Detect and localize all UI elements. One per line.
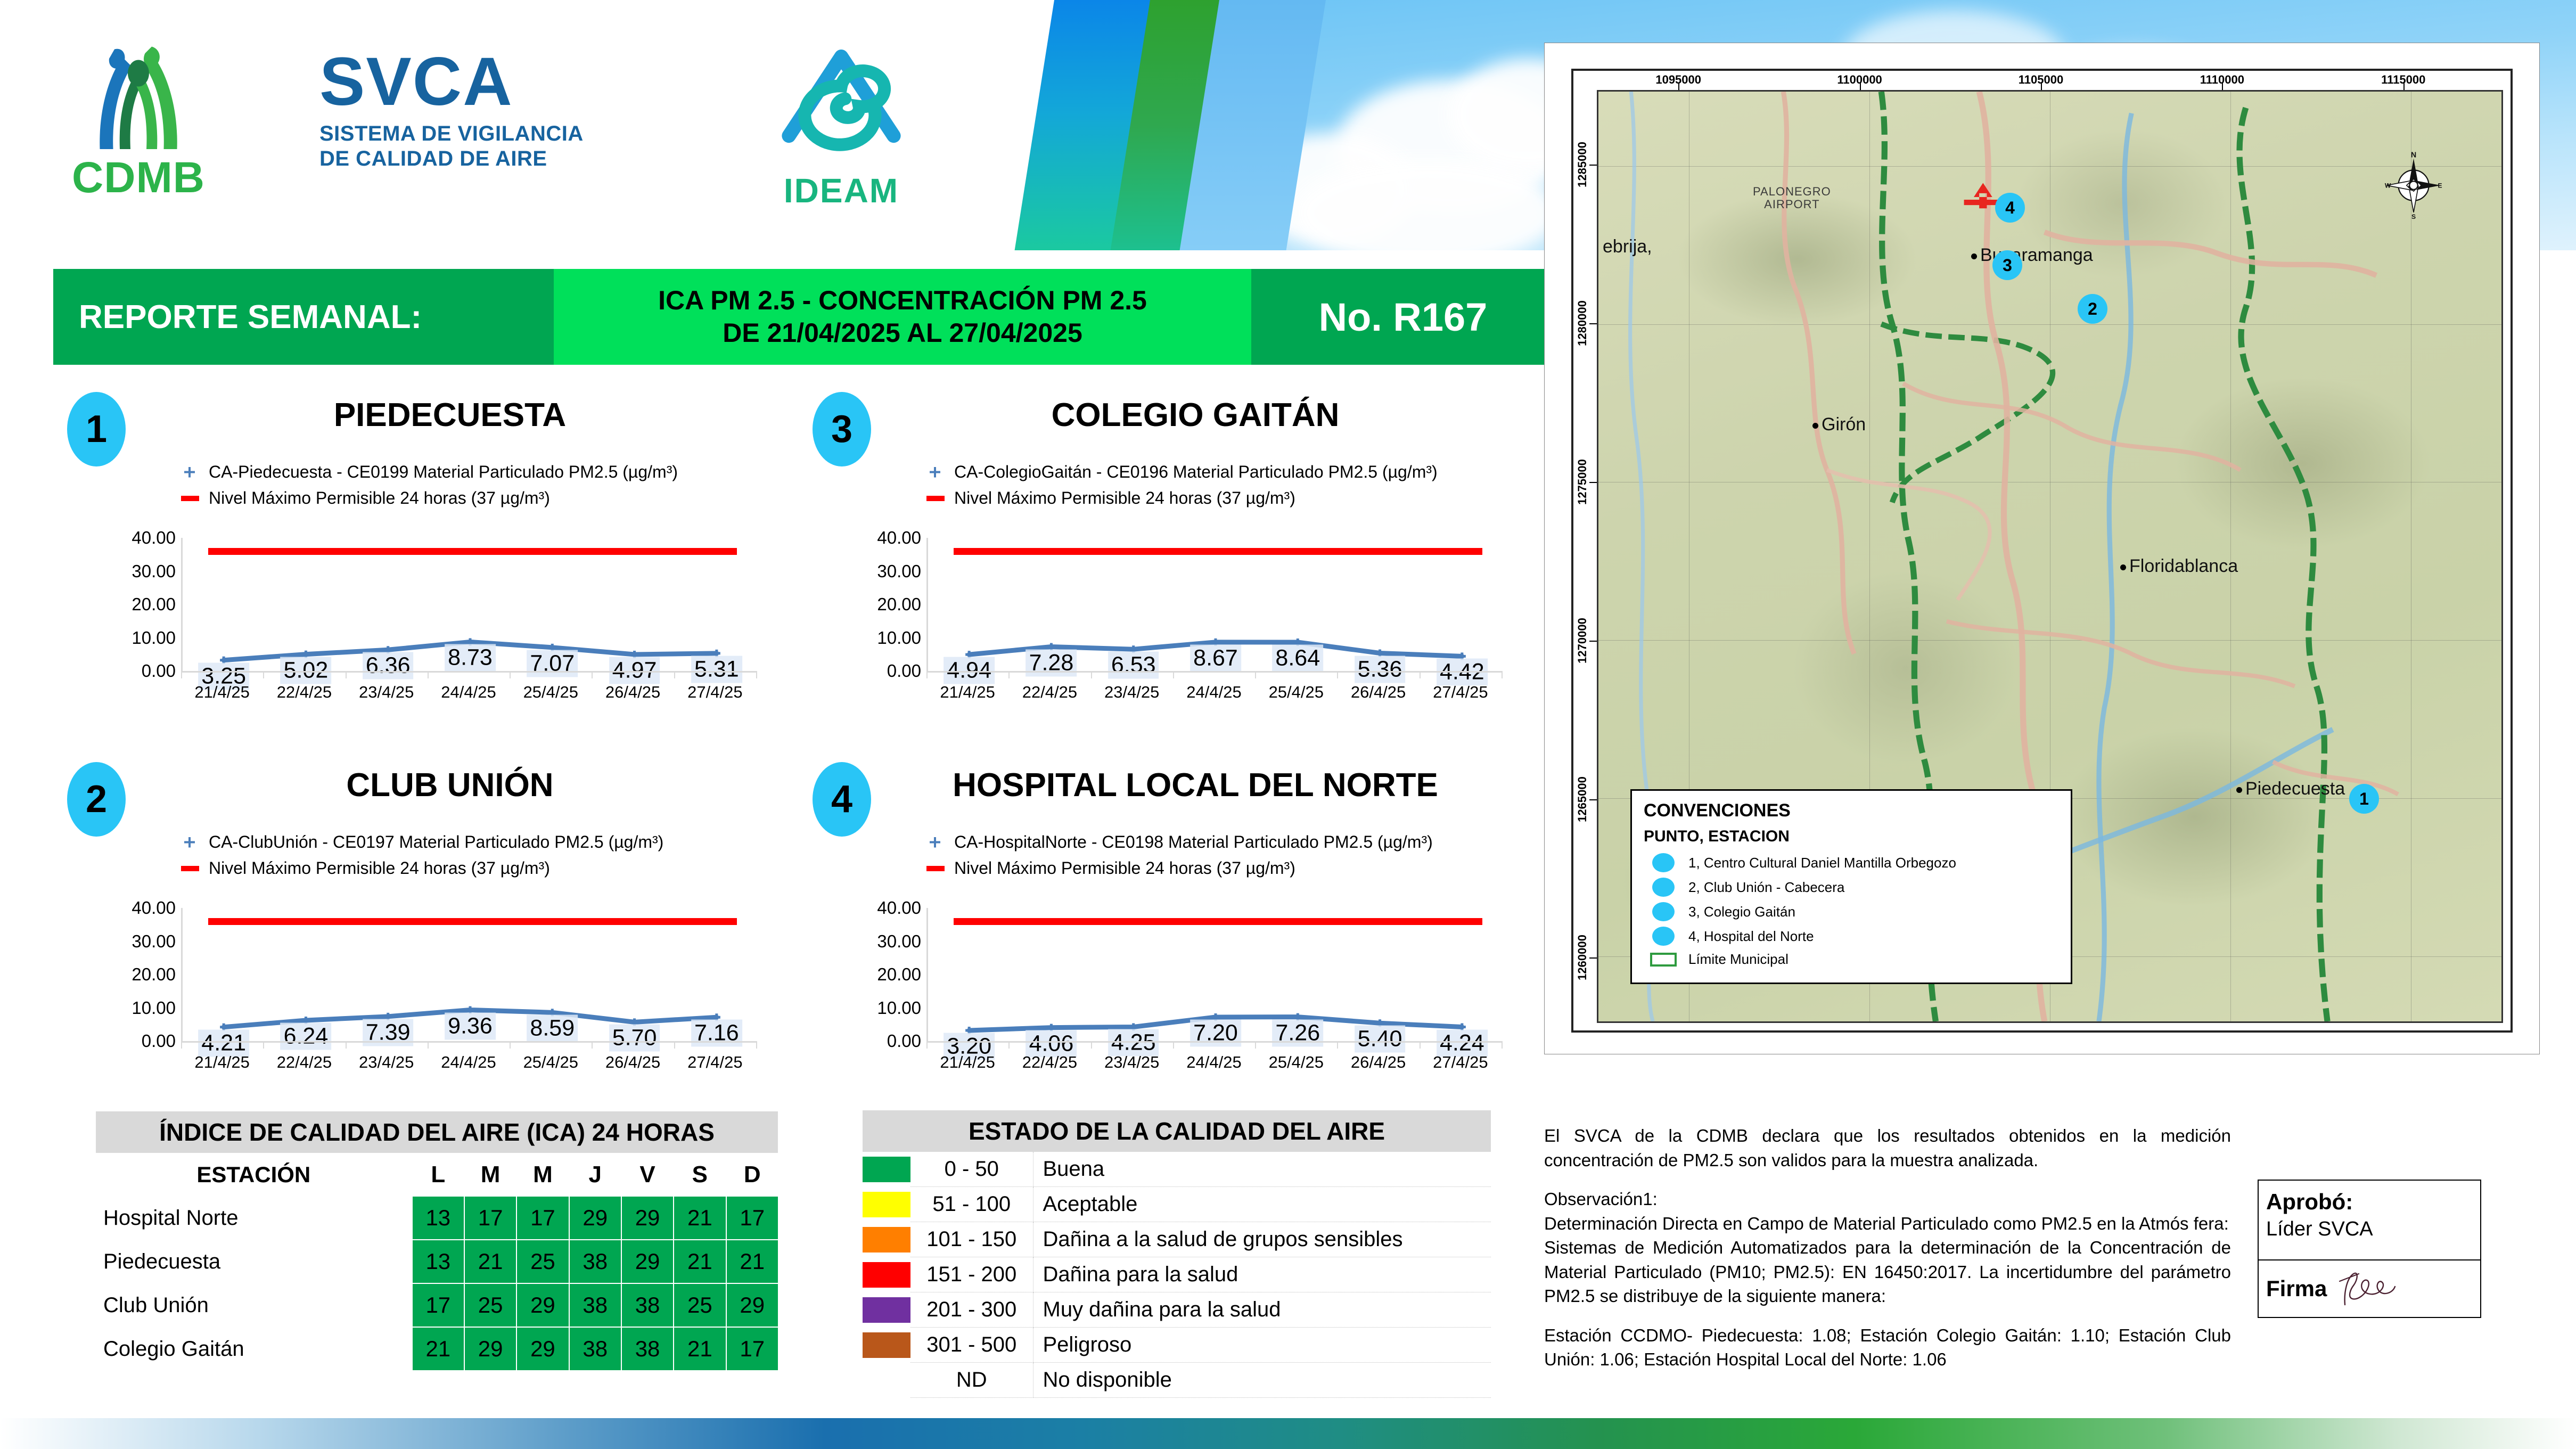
ica-value-cell: 38 bbox=[621, 1327, 674, 1371]
panel-number-badge: 2 bbox=[67, 762, 126, 837]
data-point-label: 8.64 bbox=[1272, 645, 1323, 672]
x-tick-label: 24/4/25 bbox=[441, 683, 496, 702]
x-tick-label: 25/4/25 bbox=[1269, 1053, 1324, 1072]
banner-title-segment: ICA PM 2.5 - CONCENTRACIÓN PM 2.5 DE 21/… bbox=[554, 269, 1251, 365]
x-tick-label: 26/4/25 bbox=[605, 683, 660, 702]
chart-x-axis-line bbox=[926, 1041, 1502, 1043]
x-tick-label: 21/4/25 bbox=[940, 1053, 995, 1072]
status-color-swatch-cell bbox=[863, 1222, 910, 1257]
map-legend-boundary-row: Límite Municipal bbox=[1644, 951, 2059, 968]
disclaimer-paragraph-1: El SVCA de la CDMB declara que los resul… bbox=[1544, 1124, 2231, 1172]
panel-number-badge: 3 bbox=[813, 392, 871, 466]
status-color-swatch bbox=[863, 1157, 910, 1182]
x-tick-label: 22/4/25 bbox=[1022, 683, 1077, 702]
station-point-icon bbox=[1652, 878, 1675, 897]
city-label-lebrija: ebrija, bbox=[1603, 236, 1652, 257]
x-tick-label: 24/4/25 bbox=[441, 1053, 496, 1072]
x-tick-label: 24/4/25 bbox=[1186, 683, 1241, 702]
ica-station-name: Colegio Gaitán bbox=[95, 1327, 412, 1371]
ica-value-cell: 17 bbox=[726, 1327, 778, 1371]
status-description: Dañina para la salud bbox=[1033, 1257, 1491, 1292]
svca-subtitle-line1: SISTEMA DE VIGILANCIA bbox=[319, 121, 650, 146]
list-item: ND No disponible bbox=[863, 1363, 1491, 1398]
x-tick-mark bbox=[1420, 1041, 1421, 1049]
report-type-label: REPORTE SEMANAL: bbox=[79, 298, 422, 336]
cdmb-figures-icon bbox=[51, 29, 226, 162]
data-point-label: 6.53 bbox=[1108, 652, 1159, 679]
x-tick-mark bbox=[510, 1041, 511, 1049]
x-tick-label: 26/4/25 bbox=[605, 1053, 660, 1072]
ica-day-header: J bbox=[569, 1153, 621, 1196]
ica-table-title: ÍNDICE DE CALIDAD DEL AIRE (ICA) 24 HORA… bbox=[95, 1111, 778, 1153]
map-y-tick-label: 1280000 bbox=[1576, 300, 1589, 346]
chart-y-axis: 40.0030.0020.0010.000.00 bbox=[85, 538, 176, 671]
x-tick-label: 23/4/25 bbox=[359, 1053, 414, 1072]
data-point-label: 7.16 bbox=[691, 1020, 742, 1047]
data-point-label: 8.73 bbox=[445, 644, 496, 672]
signature-cell: Firma bbox=[2259, 1260, 2480, 1317]
ica-station-name: Piedecuesta bbox=[95, 1240, 412, 1283]
chart-y-axis: 40.0030.0020.0010.000.00 bbox=[85, 908, 176, 1041]
x-tick-label: 21/4/25 bbox=[940, 683, 995, 702]
ica-day-header: M bbox=[464, 1153, 516, 1196]
station-location-map: 1095000 1100000 1105000 1110000 1115000 … bbox=[1544, 43, 2540, 1054]
data-point-label: 5.31 bbox=[691, 656, 742, 683]
status-color-swatch-cell bbox=[863, 1152, 910, 1187]
city-label-giron: Girón bbox=[1812, 414, 1866, 435]
y-tick-label: 30.00 bbox=[877, 931, 921, 952]
chart-plot-area: 40.0030.0020.0010.000.00 4.947.286.538.6… bbox=[799, 538, 1544, 714]
airport-label-line2: AIRPORT bbox=[1753, 198, 1831, 211]
map-legend-item: 4, Hospital del Norte bbox=[1644, 927, 2059, 946]
disclaimer-paragraph-3: Determinación Directa en Campo de Materi… bbox=[1544, 1211, 2231, 1236]
map-y-tick-label: 1260000 bbox=[1576, 935, 1589, 981]
ica-value-cell: 38 bbox=[569, 1283, 621, 1327]
legend-item-limit: Nivel Máximo Permisible 24 horas (37 µg/… bbox=[181, 858, 663, 878]
status-range: ND bbox=[910, 1363, 1033, 1398]
chart-x-axis-line bbox=[926, 671, 1502, 673]
legend-item-series: CA-ClubUnión - CE0197 Material Particula… bbox=[181, 832, 663, 852]
data-point-label: 9.36 bbox=[445, 1012, 496, 1039]
x-tick-mark bbox=[926, 671, 928, 678]
ica-day-header: D bbox=[726, 1153, 778, 1196]
map-legend-item-label: 1, Centro Cultural Daniel Mantilla Orbeg… bbox=[1688, 855, 1956, 871]
ica-value-cell: 21 bbox=[674, 1240, 726, 1283]
status-range: 101 - 150 bbox=[910, 1222, 1033, 1257]
status-description: Peligroso bbox=[1033, 1328, 1491, 1363]
banner-left-segment: REPORTE SEMANAL: bbox=[53, 269, 554, 365]
x-tick-mark bbox=[592, 671, 593, 678]
x-tick-mark bbox=[1091, 1041, 1092, 1049]
x-tick-mark bbox=[1337, 671, 1338, 678]
disclaimer-uncertainty: Estación CCDMO- Piedecuesta: 1.08; Estac… bbox=[1544, 1323, 2231, 1372]
x-tick-label: 27/4/25 bbox=[687, 1053, 742, 1072]
x-tick-mark bbox=[428, 1041, 429, 1049]
x-tick-mark bbox=[1173, 1041, 1174, 1049]
x-tick-label: 23/4/25 bbox=[1104, 1053, 1159, 1072]
ica-value-cell: 25 bbox=[516, 1240, 569, 1283]
ica-day-header: M bbox=[516, 1153, 569, 1196]
ica-value-cell: 17 bbox=[516, 1196, 569, 1240]
ideam-logo: IDEAM bbox=[761, 40, 921, 210]
map-x-axis: 1095000 1100000 1105000 1110000 1115000 bbox=[1597, 71, 2503, 90]
station-marker-1[interactable]: 1 bbox=[2349, 784, 2379, 814]
x-tick-label: 26/4/25 bbox=[1351, 1053, 1406, 1072]
chart-x-axis-line bbox=[181, 671, 756, 673]
report-number: No. R167 bbox=[1319, 294, 1488, 340]
banner-title-line2: DE 21/04/2025 AL 27/04/2025 bbox=[723, 317, 1082, 349]
status-range: 51 - 100 bbox=[910, 1187, 1033, 1222]
x-tick-label: 21/4/25 bbox=[194, 683, 249, 702]
legend-series-label: CA-ClubUnión - CE0197 Material Particula… bbox=[209, 832, 663, 852]
data-point-label: 4.97 bbox=[609, 657, 660, 684]
y-tick-label: 40.00 bbox=[132, 898, 176, 918]
station-point-icon bbox=[1652, 853, 1675, 872]
status-description: Aceptable bbox=[1033, 1187, 1491, 1222]
list-item: 201 - 300 Muy dañina para la salud bbox=[863, 1292, 1491, 1328]
legend-item-limit: Nivel Máximo Permisible 24 horas (37 µg/… bbox=[926, 488, 1438, 508]
x-tick-mark bbox=[674, 671, 675, 678]
x-tick-mark bbox=[181, 1041, 182, 1049]
ica-value-cell: 29 bbox=[621, 1196, 674, 1240]
list-item: 51 - 100 Aceptable bbox=[863, 1187, 1491, 1222]
x-tick-mark bbox=[926, 1041, 928, 1049]
status-range: 151 - 200 bbox=[910, 1257, 1033, 1292]
status-table-title: ESTADO DE LA CALIDAD DEL AIRE bbox=[863, 1110, 1491, 1152]
ica-value-cell: 38 bbox=[621, 1283, 674, 1327]
air-quality-status-table: ESTADO DE LA CALIDAD DEL AIRE 0 - 50 Bue… bbox=[863, 1110, 1491, 1398]
city-label-bucaramanga: Bucaramanga bbox=[1971, 245, 2093, 266]
panel-number-badge: 1 bbox=[67, 392, 126, 466]
ica-station-name: Club Unión bbox=[95, 1283, 412, 1327]
chart-x-axis-labels: 21/4/2522/4/2523/4/2524/4/2525/4/2526/4/… bbox=[926, 683, 1502, 707]
map-frame: 1095000 1100000 1105000 1110000 1115000 … bbox=[1571, 69, 2513, 1033]
legend-item-limit: Nivel Máximo Permisible 24 horas (37 µg/… bbox=[926, 858, 1433, 878]
y-tick-label: 0.00 bbox=[142, 1031, 176, 1051]
ica-value-cell: 21 bbox=[674, 1327, 726, 1371]
chart-legend: CA-Piedecuesta - CE0199 Material Particu… bbox=[181, 462, 678, 514]
map-legend-title: CONVENCIONES bbox=[1644, 800, 2059, 821]
status-range: 0 - 50 bbox=[910, 1152, 1033, 1187]
data-point-label: 7.07 bbox=[527, 650, 578, 677]
map-legend-item-label: 3, Colegio Gaitán bbox=[1688, 904, 1795, 920]
map-legend-item: 3, Colegio Gaitán bbox=[1644, 902, 2059, 921]
x-tick-mark bbox=[1255, 1041, 1256, 1049]
x-tick-label: 22/4/25 bbox=[277, 683, 332, 702]
limit-line-icon bbox=[926, 492, 945, 505]
x-tick-mark bbox=[674, 1041, 675, 1049]
chart-x-axis-line bbox=[181, 1041, 756, 1043]
chart-plot: 4.216.247.399.368.595.707.16 bbox=[181, 908, 756, 1041]
legend-limit-label: Nivel Máximo Permisible 24 horas (37 µg/… bbox=[209, 858, 550, 878]
data-point-label: 5.02 bbox=[281, 657, 332, 684]
svg-text:N: N bbox=[2411, 151, 2416, 159]
ica-value-cell: 25 bbox=[464, 1283, 516, 1327]
y-tick-label: 30.00 bbox=[132, 561, 176, 582]
svg-text:S: S bbox=[2411, 213, 2416, 219]
x-tick-label: 25/4/25 bbox=[523, 683, 578, 702]
disclaimer-text: El SVCA de la CDMB declara que los resul… bbox=[1544, 1124, 2231, 1372]
y-tick-label: 10.00 bbox=[132, 998, 176, 1018]
ica-value-cell: 29 bbox=[464, 1327, 516, 1371]
ica-station-header: ESTACIÓN bbox=[95, 1153, 412, 1196]
ica-station-name: Hospital Norte bbox=[95, 1196, 412, 1240]
map-y-axis: 1285000 1280000 1275000 1270000 1265000 … bbox=[1573, 90, 1597, 1023]
map-legend-item: 1, Centro Cultural Daniel Mantilla Orbeg… bbox=[1644, 853, 2059, 872]
svca-subtitle-line2: DE CALIDAD DE AIRE bbox=[319, 146, 650, 171]
legend-item-series: CA-ColegioGaitán - CE0196 Material Parti… bbox=[926, 462, 1438, 482]
x-tick-mark bbox=[263, 1041, 264, 1049]
chart-plot-area: 40.0030.0020.0010.000.00 3.255.026.368.7… bbox=[53, 538, 799, 714]
airport-label-line1: PALONEGRO bbox=[1753, 185, 1831, 198]
panel-number-badge: 4 bbox=[813, 762, 871, 837]
status-color-swatch-cell bbox=[863, 1187, 910, 1222]
chart-x-axis-labels: 21/4/2522/4/2523/4/2524/4/2525/4/2526/4/… bbox=[926, 1053, 1502, 1077]
chart-legend: CA-ClubUnión - CE0197 Material Particula… bbox=[181, 832, 663, 885]
map-legend-item: 2, Club Unión - Cabecera bbox=[1644, 878, 2059, 897]
status-color-swatch bbox=[863, 1227, 910, 1252]
data-point-label: 8.67 bbox=[1190, 644, 1241, 672]
x-tick-mark bbox=[428, 671, 429, 678]
ica-value-cell: 13 bbox=[412, 1240, 464, 1283]
chart-plot-area: 40.0030.0020.0010.000.00 3.204.064.257.2… bbox=[799, 908, 1544, 1084]
ica-header-row: ESTACIÓNLMMJVSD bbox=[95, 1153, 778, 1196]
ica-value-cell: 38 bbox=[569, 1240, 621, 1283]
report-page: CDMB SVCA SISTEMA DE VIGILANCIA DE CALID… bbox=[0, 0, 2576, 1449]
chart-plot-area: 40.0030.0020.0010.000.00 4.216.247.399.3… bbox=[53, 908, 799, 1084]
chart-x-axis-labels: 21/4/2522/4/2523/4/2524/4/2525/4/2526/4/… bbox=[181, 683, 756, 707]
status-range: 201 - 300 bbox=[910, 1292, 1033, 1328]
chart-panel-1: 1 PIEDECUESTA CA-Piedecuesta - CE0199 Ma… bbox=[53, 383, 799, 714]
chart-title: CLUB UNIÓN bbox=[149, 766, 751, 804]
y-tick-label: 40.00 bbox=[877, 528, 921, 548]
svg-text:W: W bbox=[2385, 182, 2391, 190]
chart-plot: 4.947.286.538.678.645.364.42 bbox=[926, 538, 1502, 671]
station-marker-2[interactable]: 2 bbox=[2078, 294, 2107, 324]
x-tick-label: 27/4/25 bbox=[1433, 1053, 1488, 1072]
disclaimer-observation-heading: Observación1: bbox=[1544, 1187, 2231, 1211]
ica-value-cell: 21 bbox=[464, 1240, 516, 1283]
ideam-spiral-icon bbox=[761, 40, 921, 168]
map-legend-item-label: 4, Hospital del Norte bbox=[1688, 928, 1814, 945]
map-y-tick-label: 1270000 bbox=[1576, 618, 1589, 664]
x-tick-mark bbox=[1008, 1041, 1010, 1049]
y-tick-label: 10.00 bbox=[877, 998, 921, 1018]
x-tick-mark bbox=[592, 1041, 593, 1049]
chart-plot: 3.255.026.368.737.074.975.31 bbox=[181, 538, 756, 671]
approval-box: Aprobó: Líder SVCA Firma bbox=[2258, 1180, 2481, 1318]
map-canvas: PALONEGRO AIRPORT ebrija, Bucaramanga Gi… bbox=[1597, 90, 2503, 1023]
y-tick-label: 30.00 bbox=[877, 561, 921, 582]
chart-title: COLEGIO GAITÁN bbox=[895, 396, 1496, 434]
city-label-floridablanca: Floridablanca bbox=[2120, 556, 2238, 577]
table-row: Piedecuesta13212538292121 bbox=[95, 1240, 778, 1283]
station-marker-4[interactable]: 4 bbox=[1995, 193, 2025, 223]
legend-limit-label: Nivel Máximo Permisible 24 horas (37 µg/… bbox=[954, 488, 1295, 508]
ideam-logo-text: IDEAM bbox=[761, 171, 921, 210]
ica-value-cell: 29 bbox=[516, 1283, 569, 1327]
legend-limit-label: Nivel Máximo Permisible 24 horas (37 µg/… bbox=[209, 488, 550, 508]
data-point-label: 8.59 bbox=[527, 1015, 578, 1042]
status-color-swatch-cell bbox=[863, 1363, 910, 1398]
ica-value-cell: 25 bbox=[674, 1283, 726, 1327]
compass-rose-icon: N S E W bbox=[2384, 150, 2443, 219]
chart-panel-3: 3 COLEGIO GAITÁN CA-ColegioGaitán - CE01… bbox=[799, 383, 1544, 714]
x-tick-label: 26/4/25 bbox=[1351, 683, 1406, 702]
y-tick-label: 0.00 bbox=[887, 661, 921, 681]
x-tick-mark bbox=[1420, 671, 1421, 678]
disclaimer-paragraph-4: Sistemas de Medición Automatizados para … bbox=[1544, 1235, 2231, 1308]
y-tick-label: 30.00 bbox=[132, 931, 176, 952]
signature-icon bbox=[2335, 1267, 2410, 1310]
ica-day-header: S bbox=[674, 1153, 726, 1196]
ica-day-header: L bbox=[412, 1153, 464, 1196]
x-tick-label: 27/4/25 bbox=[687, 683, 742, 702]
x-tick-mark bbox=[346, 1041, 347, 1049]
cdmb-logo-text: CDMB bbox=[51, 153, 226, 203]
x-tick-mark bbox=[181, 671, 182, 678]
x-tick-mark bbox=[510, 671, 511, 678]
table-row: Colegio Gaitán21292938382117 bbox=[95, 1327, 778, 1371]
x-tick-label: 23/4/25 bbox=[1104, 683, 1159, 702]
y-tick-label: 20.00 bbox=[132, 594, 176, 615]
ica-value-cell: 29 bbox=[621, 1240, 674, 1283]
y-tick-label: 20.00 bbox=[877, 594, 921, 615]
map-y-tick-label: 1275000 bbox=[1576, 459, 1589, 505]
y-tick-label: 0.00 bbox=[142, 661, 176, 681]
status-color-swatch-cell bbox=[863, 1257, 910, 1292]
x-tick-label: 27/4/25 bbox=[1433, 683, 1488, 702]
limit-line-icon bbox=[181, 862, 199, 875]
ica-value-cell: 29 bbox=[726, 1283, 778, 1327]
status-description: Buena bbox=[1033, 1152, 1491, 1187]
status-color-swatch bbox=[863, 1192, 910, 1217]
y-tick-label: 40.00 bbox=[877, 898, 921, 918]
list-item: 301 - 500 Peligroso bbox=[863, 1328, 1491, 1363]
y-tick-label: 20.00 bbox=[132, 964, 176, 985]
data-point-label: 6.24 bbox=[281, 1023, 332, 1050]
data-point-label: 5.36 bbox=[1355, 656, 1406, 683]
x-tick-label: 22/4/25 bbox=[277, 1053, 332, 1072]
city-label-piedecuesta: Piedecuesta bbox=[2236, 779, 2345, 799]
status-description: Muy dañina para la salud bbox=[1033, 1292, 1491, 1328]
chart-legend: CA-HospitalNorte - CE0198 Material Parti… bbox=[926, 832, 1433, 885]
status-range: 301 - 500 bbox=[910, 1328, 1033, 1363]
map-legend-boundary-label: Límite Municipal bbox=[1688, 951, 1789, 968]
legend-item-series: CA-Piedecuesta - CE0199 Material Particu… bbox=[181, 462, 678, 482]
status-color-swatch bbox=[863, 1332, 910, 1358]
series-marker-icon bbox=[926, 466, 945, 479]
report-banner: REPORTE SEMANAL: ICA PM 2.5 - CONCENTRAC… bbox=[53, 269, 1555, 365]
ica-value-cell: 17 bbox=[726, 1196, 778, 1240]
x-tick-label: 25/4/25 bbox=[523, 1053, 578, 1072]
ica-value-cell: 38 bbox=[569, 1327, 621, 1371]
x-tick-mark bbox=[1255, 671, 1256, 678]
y-tick-label: 0.00 bbox=[887, 1031, 921, 1051]
limit-line-icon bbox=[181, 492, 199, 505]
chart-plot: 3.204.064.257.207.265.404.24 bbox=[926, 908, 1502, 1041]
status-color-swatch bbox=[863, 1297, 910, 1323]
signature-label: Firma bbox=[2266, 1276, 2327, 1301]
ica-value-cell: 17 bbox=[412, 1283, 464, 1327]
cdmb-logo: CDMB bbox=[51, 29, 226, 205]
y-tick-label: 40.00 bbox=[132, 528, 176, 548]
x-tick-mark bbox=[346, 671, 347, 678]
banner-number-segment: No. R167 bbox=[1251, 269, 1555, 365]
x-tick-mark bbox=[1337, 1041, 1338, 1049]
ica-value-cell: 21 bbox=[726, 1240, 778, 1283]
x-tick-label: 24/4/25 bbox=[1186, 1053, 1241, 1072]
status-color-swatch-cell bbox=[863, 1292, 910, 1328]
x-tick-mark bbox=[1173, 671, 1174, 678]
list-item: 0 - 50 Buena bbox=[863, 1152, 1491, 1187]
chart-title: HOSPITAL LOCAL DEL NORTE bbox=[895, 766, 1496, 804]
limit-line-icon bbox=[926, 862, 945, 875]
map-legend-subtitle: PUNTO, ESTACION bbox=[1644, 828, 2059, 846]
legend-series-label: CA-HospitalNorte - CE0198 Material Parti… bbox=[954, 832, 1433, 852]
chart-y-axis: 40.0030.0020.0010.000.00 bbox=[831, 908, 921, 1041]
data-point-label: 6.36 bbox=[363, 652, 414, 680]
list-item: 151 - 200 Dañina para la salud bbox=[863, 1257, 1491, 1292]
ica-value-cell: 29 bbox=[569, 1196, 621, 1240]
ica-day-header: V bbox=[621, 1153, 674, 1196]
chart-title: PIEDECUESTA bbox=[149, 396, 751, 434]
svca-logo: SVCA SISTEMA DE VIGILANCIA DE CALIDAD DE… bbox=[319, 48, 650, 171]
station-point-icon bbox=[1652, 902, 1675, 921]
ica-value-cell: 13 bbox=[412, 1196, 464, 1240]
x-tick-mark bbox=[263, 671, 264, 678]
x-tick-mark bbox=[1091, 671, 1092, 678]
map-legend-conventions: CONVENCIONES PUNTO, ESTACION 1, Centro C… bbox=[1630, 789, 2072, 984]
data-point-label: 5.70 bbox=[609, 1025, 660, 1052]
series-marker-icon bbox=[181, 836, 199, 849]
series-marker-icon bbox=[181, 466, 199, 479]
svca-logo-text: SVCA bbox=[319, 48, 650, 116]
approved-label: Aprobó: bbox=[2266, 1189, 2473, 1215]
chart-y-axis: 40.0030.0020.0010.000.00 bbox=[831, 538, 921, 671]
ica-value-cell: 29 bbox=[516, 1327, 569, 1371]
data-point-label: 5.40 bbox=[1355, 1026, 1406, 1053]
station-point-icon bbox=[1652, 927, 1675, 946]
svg-text:E: E bbox=[2438, 182, 2442, 190]
x-tick-mark bbox=[1008, 671, 1010, 678]
x-tick-label: 25/4/25 bbox=[1269, 683, 1324, 702]
chart-legend: CA-ColegioGaitán - CE0196 Material Parti… bbox=[926, 462, 1438, 514]
status-color-swatch bbox=[863, 1262, 910, 1288]
legend-series-label: CA-ColegioGaitán - CE0196 Material Parti… bbox=[954, 462, 1438, 482]
y-tick-label: 10.00 bbox=[877, 628, 921, 648]
footer-gradient-bar bbox=[0, 1418, 2576, 1449]
chart-panel-2: 2 CLUB UNIÓN CA-ClubUnión - CE0197 Mater… bbox=[53, 754, 799, 1084]
status-color-swatch-cell bbox=[863, 1328, 910, 1363]
map-legend-item-label: 2, Club Unión - Cabecera bbox=[1688, 879, 1844, 896]
approval-top-cell: Aprobó: Líder SVCA bbox=[2259, 1181, 2480, 1260]
legend-series-label: CA-Piedecuesta - CE0199 Material Particu… bbox=[209, 462, 678, 482]
map-y-tick-label: 1285000 bbox=[1576, 142, 1589, 187]
legend-item-limit: Nivel Máximo Permisible 24 horas (37 µg/… bbox=[181, 488, 678, 508]
list-item: 101 - 150 Dañina a la salud de grupos se… bbox=[863, 1222, 1491, 1257]
x-tick-label: 23/4/25 bbox=[359, 683, 414, 702]
station-marker-3[interactable]: 3 bbox=[1992, 250, 2022, 280]
y-tick-label: 20.00 bbox=[877, 964, 921, 985]
table-row: Hospital Norte13171729292117 bbox=[95, 1196, 778, 1240]
banner-title-line1: ICA PM 2.5 - CONCENTRACIÓN PM 2.5 bbox=[658, 284, 1147, 317]
series-marker-icon bbox=[926, 836, 945, 849]
ica-value-cell: 21 bbox=[412, 1327, 464, 1371]
status-description: No disponible bbox=[1033, 1363, 1491, 1398]
table-row: Club Unión17252938382529 bbox=[95, 1283, 778, 1327]
x-tick-label: 22/4/25 bbox=[1022, 1053, 1077, 1072]
